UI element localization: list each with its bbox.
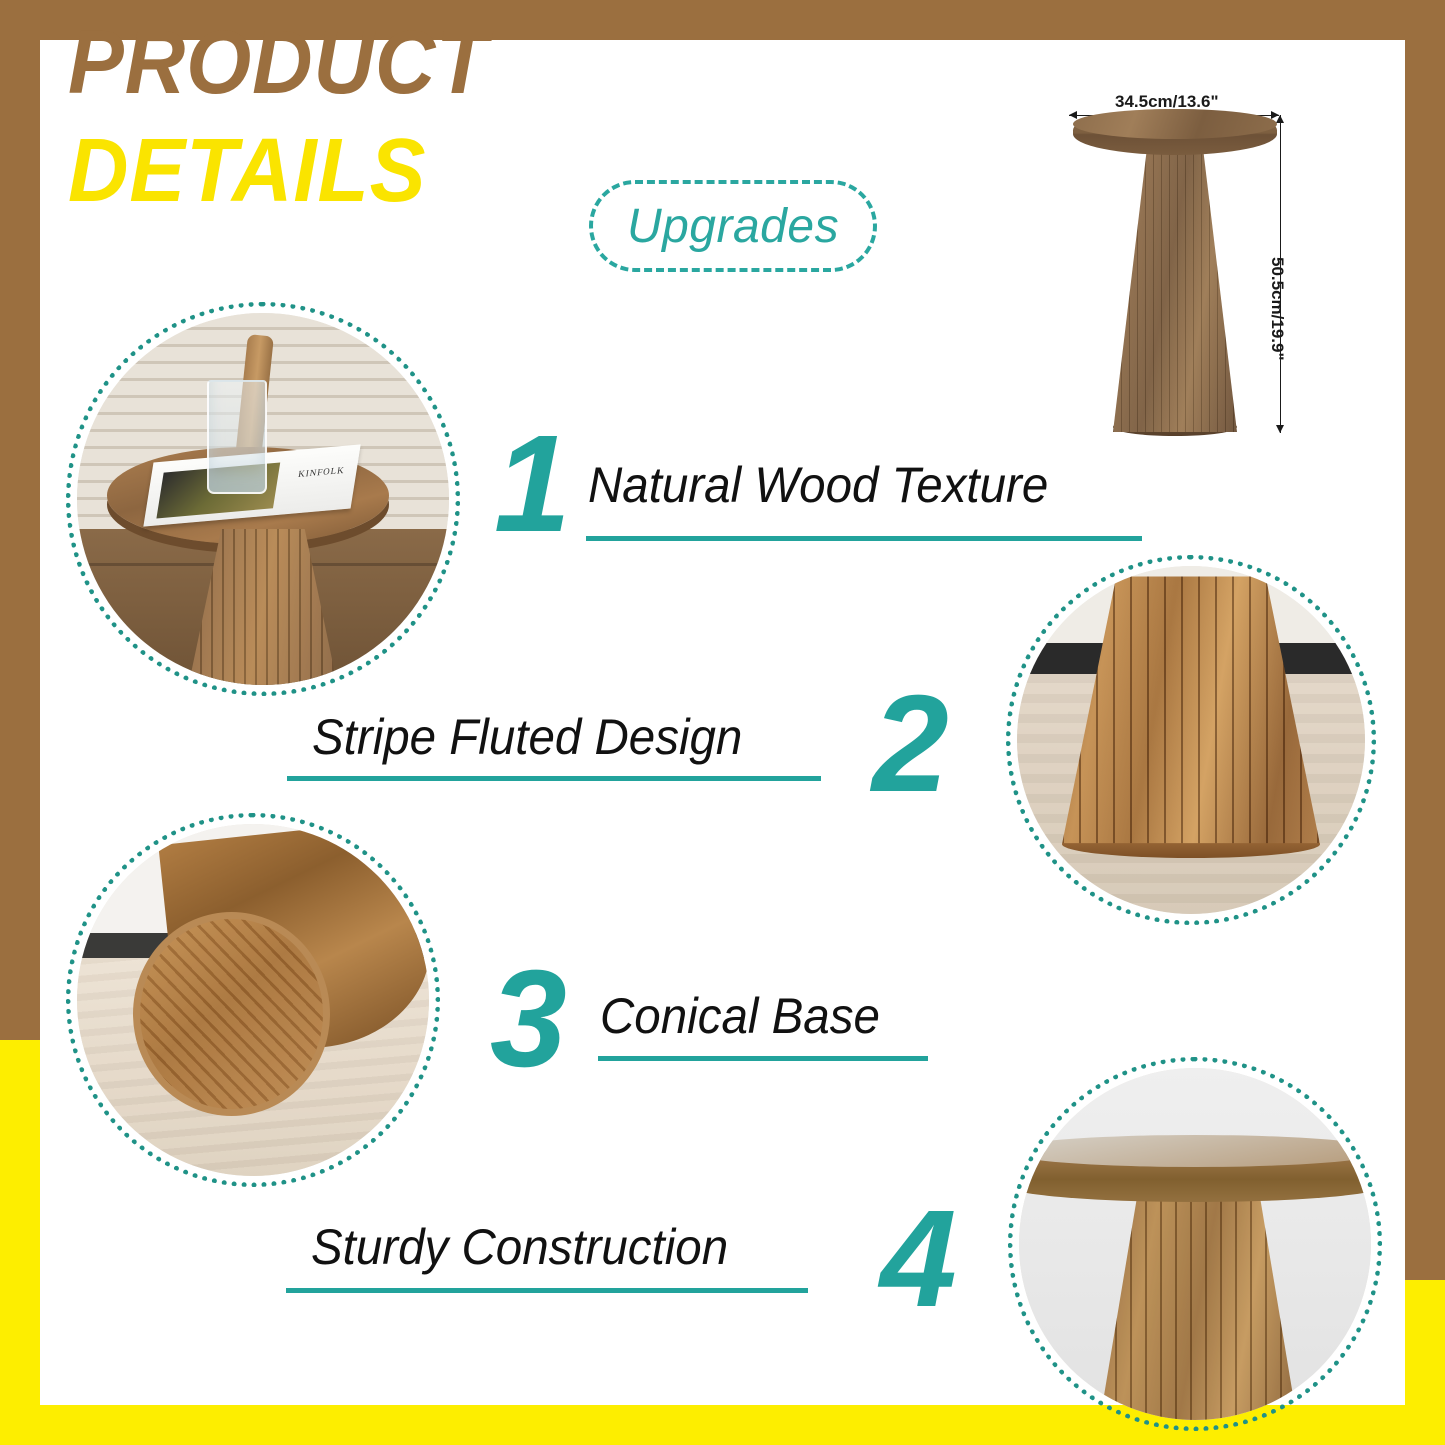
diagram-fluted-cone bbox=[1113, 142, 1237, 432]
scene1-magazine-title: KINFOLK bbox=[297, 465, 345, 479]
feature-3-underline bbox=[598, 1056, 928, 1061]
feature-1-underline bbox=[586, 536, 1142, 541]
feature-4-number: 4 bbox=[880, 1190, 957, 1328]
feature-3-label: Conical Base bbox=[600, 991, 880, 1041]
photo-fluted-conical-base bbox=[1017, 566, 1365, 914]
dimension-diagram: 34.5cm/13.6" 50.5cm/19.9" bbox=[1055, 82, 1355, 462]
feature-1-number: 1 bbox=[494, 415, 571, 553]
scene4-tabletop-face bbox=[1019, 1135, 1371, 1167]
feature-2-underline bbox=[287, 776, 821, 781]
upgrades-badge: Upgrades bbox=[589, 180, 877, 272]
scene3-cone-end-disc bbox=[133, 912, 330, 1116]
diagram-tabletop-face bbox=[1073, 109, 1277, 139]
dimension-width-label: 34.5cm/13.6" bbox=[1115, 92, 1219, 112]
feature-4-label: Sturdy Construction bbox=[311, 1222, 728, 1272]
dimension-height-label: 50.5cm/19.9" bbox=[1267, 257, 1287, 361]
frame-border-right-brown bbox=[1405, 0, 1445, 1280]
feature-2-number: 2 bbox=[872, 675, 949, 813]
photo-table-with-glass-and-magazine: KINFOLK bbox=[77, 313, 449, 685]
upgrades-badge-label: Upgrades bbox=[627, 199, 839, 254]
photo-conical-base-on-side bbox=[77, 824, 429, 1176]
scene1-drinking-glass bbox=[207, 380, 267, 494]
feature-3-number: 3 bbox=[490, 950, 567, 1088]
feature-2-label: Stripe Fluted Design bbox=[312, 712, 742, 762]
product-details-infographic: PRODUCT DETAILS Upgrades 34.5cm/13.6" 50… bbox=[0, 0, 1445, 1445]
feature-4-underline bbox=[286, 1288, 808, 1293]
frame-border-left-brown bbox=[0, 0, 40, 1040]
photo-tabletop-and-base-joint bbox=[1019, 1068, 1371, 1420]
feature-1-label: Natural Wood Texture bbox=[588, 460, 1048, 510]
page-title-line1: PRODUCT bbox=[68, 18, 719, 108]
frame-border-left-yellow bbox=[0, 1040, 40, 1445]
